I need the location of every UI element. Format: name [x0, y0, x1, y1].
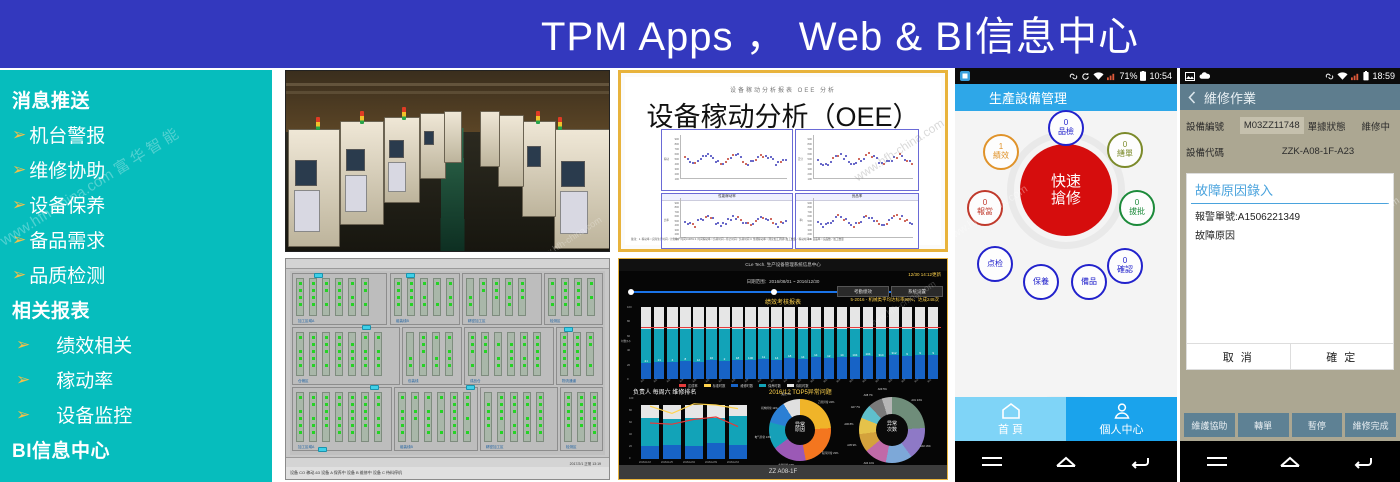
scada-machine-status[interactable]: [564, 303, 567, 306]
scada-machine-status[interactable]: [513, 410, 516, 413]
scada-machine-status[interactable]: [449, 296, 452, 299]
sidebar: 消息推送 ➢ 机台警报 ➢ 维修协助 ➢ 设备保养 ➢ 备品需求 ➢ 品质检测 …: [0, 70, 272, 482]
scada-machine-status[interactable]: [414, 410, 417, 413]
scada-machine-status[interactable]: [299, 410, 302, 413]
scada-machine-status[interactable]: [338, 296, 341, 299]
scada-machine-status[interactable]: [299, 431, 302, 434]
scada-machine-status[interactable]: [593, 410, 596, 413]
scada-machine-status[interactable]: [508, 296, 511, 299]
scada-machine-status[interactable]: [469, 296, 472, 299]
scada-machine-status[interactable]: [325, 343, 328, 346]
scada-machine-status[interactable]: [338, 424, 341, 427]
scada-machine-status[interactable]: [409, 364, 412, 367]
home-nav-icon[interactable]: [1279, 455, 1301, 469]
scada-machine-status[interactable]: [513, 424, 516, 427]
sidebar-item-quality-check[interactable]: ➢ 品质检测: [8, 257, 272, 292]
scada-machine-status[interactable]: [299, 336, 302, 339]
scada-machine-status[interactable]: [312, 403, 315, 406]
scada-machine-status[interactable]: [523, 357, 526, 360]
signal-icon: [1351, 72, 1360, 81]
scada-machine-status[interactable]: [312, 364, 315, 367]
scada-machine-status[interactable]: [325, 396, 328, 399]
scada-machine-status[interactable]: [435, 336, 438, 339]
scada-machine-status[interactable]: [364, 303, 367, 306]
scada-machine-status[interactable]: [312, 424, 315, 427]
scada-machine-status[interactable]: [469, 303, 472, 306]
scada-machine-status[interactable]: [325, 364, 328, 367]
scada-machine-status[interactable]: [351, 431, 354, 434]
scada-machine-status[interactable]: [539, 417, 542, 420]
scada-machine-status[interactable]: [453, 403, 456, 406]
scada-machine-status[interactable]: [364, 336, 367, 339]
scada-machine-status[interactable]: [471, 343, 474, 346]
scada-machine-status[interactable]: [422, 364, 425, 367]
scada-machine-status[interactable]: [448, 350, 451, 353]
scada-machine-status[interactable]: [482, 289, 485, 292]
scada-machine-status[interactable]: [589, 336, 592, 339]
scada-machine-status[interactable]: [364, 350, 367, 353]
scada-machine-status[interactable]: [567, 396, 570, 399]
scada-machine-status[interactable]: [338, 350, 341, 353]
scada-machine-status[interactable]: [423, 296, 426, 299]
scada-machine-status[interactable]: [593, 396, 596, 399]
cancel-button[interactable]: 取 消: [1187, 344, 1290, 369]
scada-machine-status[interactable]: [523, 343, 526, 346]
scada-machine-status[interactable]: [299, 303, 302, 306]
scada-machine-status[interactable]: [466, 417, 469, 420]
scada-machine-status[interactable]: [351, 282, 354, 285]
scada-zone[interactable]: [462, 273, 542, 325]
scada-machine-status[interactable]: [325, 303, 328, 306]
node-performance[interactable]: 1 績效: [983, 134, 1019, 170]
scada-machine-status[interactable]: [536, 350, 539, 353]
scada-machine-status[interactable]: [539, 396, 542, 399]
scada-machine-status[interactable]: [536, 364, 539, 367]
scada-machine-status[interactable]: [563, 364, 566, 367]
scada-machine-status[interactable]: [453, 396, 456, 399]
node-work-order[interactable]: 0 繕單: [1107, 132, 1143, 168]
scada-machine-status[interactable]: [312, 336, 315, 339]
scada-machine-status[interactable]: [580, 424, 583, 427]
scada-machine-status[interactable]: [466, 403, 469, 406]
scada-machine-status[interactable]: [500, 431, 503, 434]
scada-machine-status[interactable]: [338, 336, 341, 339]
oee-notes: 备注：1. 稼动率＝实际生产时间／计划生产时间×100% 2. 时间稼动率＝负荷…: [631, 238, 935, 242]
scada-machine-status[interactable]: [427, 431, 430, 434]
scada-machine-status[interactable]: [576, 364, 579, 367]
scada-machine-status[interactable]: [453, 410, 456, 413]
scada-machine-status[interactable]: [484, 343, 487, 346]
scada-machine-status[interactable]: [312, 357, 315, 360]
scada-machine-status[interactable]: [351, 303, 354, 306]
scada-machine-status[interactable]: [471, 336, 474, 339]
scada-machine-status[interactable]: [397, 282, 400, 285]
scada-machine-status[interactable]: [449, 303, 452, 306]
scada-machine-status[interactable]: [497, 343, 500, 346]
scada-machine-status[interactable]: [500, 396, 503, 399]
scada-bottom-toolbar[interactable]: [286, 457, 609, 467]
scada-machine-status[interactable]: [364, 417, 367, 420]
scada-machine-status[interactable]: [564, 282, 567, 285]
scada-machine-status[interactable]: [487, 424, 490, 427]
scada-machine-status[interactable]: [377, 357, 380, 360]
scada-machine-status[interactable]: [299, 364, 302, 367]
slider-knob-start[interactable]: [628, 289, 634, 295]
scada-machine-status[interactable]: [423, 303, 426, 306]
scada-machine-status[interactable]: [397, 289, 400, 292]
scada-machine-status[interactable]: [397, 303, 400, 306]
scada-machine-status[interactable]: [338, 343, 341, 346]
quick-repair-button[interactable]: 快速 搶修: [1020, 144, 1112, 236]
scada-machine-status[interactable]: [351, 364, 354, 367]
scada-machine-status[interactable]: [299, 296, 302, 299]
scada-machine-status[interactable]: [299, 282, 302, 285]
scada-machine-status[interactable]: [521, 296, 524, 299]
scada-machine-status[interactable]: [497, 357, 500, 360]
scada-machine-status[interactable]: [401, 424, 404, 427]
scada-machine-status[interactable]: [312, 282, 315, 285]
scada-machine-status[interactable]: [436, 282, 439, 285]
scada-machine-status[interactable]: [377, 431, 380, 434]
sidebar-item-utilization[interactable]: ➢ 稼动率: [8, 362, 272, 397]
scada-machine-status[interactable]: [338, 396, 341, 399]
scada-machine-status[interactable]: [377, 417, 380, 420]
scada-machine-status[interactable]: [589, 364, 592, 367]
scada-machine-status[interactable]: [377, 336, 380, 339]
back-icon[interactable]: [1129, 455, 1151, 469]
bar-segment: [915, 307, 925, 329]
scada-machine-status[interactable]: [427, 417, 430, 420]
scada-machine-status[interactable]: [466, 431, 469, 434]
confirm-button[interactable]: 確 定: [1291, 344, 1394, 369]
tab-home[interactable]: 首 頁: [955, 397, 1066, 441]
scada-machine-status[interactable]: [567, 424, 570, 427]
scada-machine-status[interactable]: [453, 417, 456, 420]
scada-machine-status[interactable]: [577, 282, 580, 285]
sidebar-item-equipment-monitor[interactable]: ➢ 设备监控: [8, 397, 272, 432]
scada-machine-status[interactable]: [523, 336, 526, 339]
scada-machine-status[interactable]: [440, 431, 443, 434]
scada-machine-status[interactable]: [364, 364, 367, 367]
trend-bar-segment: [685, 418, 703, 446]
scada-floorplan[interactable]: 设备 CO 稼动-63 设备 A 保养中 设备 B 维修中 设备 C 待料停机 …: [285, 258, 610, 480]
scada-machine-status[interactable]: [590, 296, 593, 299]
scada-machine-status[interactable]: [536, 336, 539, 339]
node-quality-check[interactable]: 0 品檢: [1048, 110, 1084, 146]
scada-machine-status[interactable]: [440, 396, 443, 399]
scada-machine-status[interactable]: [471, 364, 474, 367]
sidebar-item-equipment-maintenance[interactable]: ➢ 设备保养: [8, 187, 272, 222]
scada-machine-status[interactable]: [427, 396, 430, 399]
scada-machine-status[interactable]: [436, 303, 439, 306]
scada-machine-status[interactable]: [325, 424, 328, 427]
scada-machine-status[interactable]: [401, 417, 404, 420]
scada-machine-status[interactable]: [409, 357, 412, 360]
scada-machine-status[interactable]: [563, 336, 566, 339]
scada-machine-status[interactable]: [539, 431, 542, 434]
scada-machine-status[interactable]: [580, 417, 583, 420]
scada-machine-status[interactable]: [466, 396, 469, 399]
scada-machine-status[interactable]: [427, 424, 430, 427]
scada-machine-status[interactable]: [521, 282, 524, 285]
scada-machine-status[interactable]: [377, 403, 380, 406]
scada-machine-status[interactable]: [539, 403, 542, 406]
scada-machine-status[interactable]: [500, 410, 503, 413]
scada-machine-status[interactable]: [526, 417, 529, 420]
scada-machine-status[interactable]: [510, 343, 513, 346]
scada-machine-status[interactable]: [351, 357, 354, 360]
scada-machine-status[interactable]: [536, 357, 539, 360]
scada-machine-status[interactable]: [593, 431, 596, 434]
back-chevron-icon[interactable]: [1188, 91, 1196, 104]
node-spare-parts[interactable]: 備品: [1071, 264, 1107, 300]
scada-machine-status[interactable]: [500, 417, 503, 420]
scada-machine-status[interactable]: [576, 336, 579, 339]
scada-machine-status[interactable]: [364, 424, 367, 427]
sidebar-item-spare-parts[interactable]: ➢ 备品需求: [8, 222, 272, 257]
scada-machine-status[interactable]: [567, 403, 570, 406]
scada-machine-status[interactable]: [577, 303, 580, 306]
scada-machine-status[interactable]: [351, 403, 354, 406]
bar-value-label: 12: [693, 358, 703, 362]
slider-knob-mid[interactable]: [771, 289, 777, 295]
back-icon[interactable]: [1352, 455, 1374, 469]
scada-machine-status[interactable]: [495, 282, 498, 285]
scada-machine-status[interactable]: [338, 289, 341, 292]
sidebar-item-performance[interactable]: ➢ 绩效相关: [8, 327, 272, 362]
scada-machine-status[interactable]: [448, 357, 451, 360]
scada-machine-status[interactable]: [325, 336, 328, 339]
scada-machine-status[interactable]: [453, 424, 456, 427]
scada-machine-status[interactable]: [564, 296, 567, 299]
scada-machine-status[interactable]: [422, 350, 425, 353]
scada-machine-status[interactable]: [484, 350, 487, 353]
scada-machine-status[interactable]: [500, 403, 503, 406]
node-batch-pull[interactable]: 0 拔批: [1119, 190, 1155, 226]
scada-machine-status[interactable]: [539, 424, 542, 427]
scada-machine-status[interactable]: [338, 282, 341, 285]
menu-icon[interactable]: [1206, 455, 1228, 469]
scada-machine-status[interactable]: [325, 350, 328, 353]
scada-machine-status[interactable]: [325, 403, 328, 406]
scada-machine-status[interactable]: [312, 396, 315, 399]
scada-machine-status[interactable]: [325, 282, 328, 285]
scada-machine-status[interactable]: [523, 364, 526, 367]
scada-machine-status[interactable]: [422, 343, 425, 346]
scada-machine-status[interactable]: [448, 364, 451, 367]
action-repair-complete[interactable]: 維修完成: [1345, 413, 1396, 437]
scada-machine-status[interactable]: [487, 410, 490, 413]
scada-machine-status[interactable]: [508, 282, 511, 285]
scada-machine-status[interactable]: [580, 410, 583, 413]
scada-machine-status[interactable]: [312, 289, 315, 292]
scada-machine-status[interactable]: [377, 424, 380, 427]
scada-machine-status[interactable]: [299, 417, 302, 420]
scada-machine-status[interactable]: [377, 350, 380, 353]
scada-machine-status[interactable]: [410, 282, 413, 285]
scada-machine-status[interactable]: [580, 403, 583, 406]
scada-machine-status[interactable]: [377, 396, 380, 399]
scada-machine-status[interactable]: [495, 289, 498, 292]
scada-machine-status[interactable]: [508, 303, 511, 306]
scada-machine-status[interactable]: [567, 417, 570, 420]
scada-machine-status[interactable]: [364, 289, 367, 292]
scada-toolbar[interactable]: [286, 259, 609, 269]
scada-machine-status[interactable]: [410, 296, 413, 299]
scada-machine-status[interactable]: [593, 424, 596, 427]
scada-machine-status[interactable]: [377, 364, 380, 367]
scada-machine-status[interactable]: [577, 289, 580, 292]
scada-machine-status[interactable]: [364, 396, 367, 399]
scada-machine-status[interactable]: [576, 357, 579, 360]
scada-machine-status[interactable]: [495, 296, 498, 299]
scada-machine-status[interactable]: [526, 396, 529, 399]
y-axis-label: 时数(H): [621, 339, 630, 343]
scada-machine-status[interactable]: [351, 343, 354, 346]
scada-machine-status[interactable]: [325, 417, 328, 420]
scada-machine-status[interactable]: [423, 282, 426, 285]
scada-machine-status[interactable]: [312, 350, 315, 353]
scada-machine-status[interactable]: [325, 289, 328, 292]
scada-machine-status[interactable]: [414, 417, 417, 420]
scada-machine-status[interactable]: [513, 403, 516, 406]
scada-machine-status[interactable]: [435, 364, 438, 367]
scada-machine-status[interactable]: [576, 343, 579, 346]
scada-machine-status[interactable]: [364, 282, 367, 285]
oee-data-point: [820, 223, 822, 225]
scada-machine-status[interactable]: [338, 403, 341, 406]
scada-canvas[interactable]: 加工区域A组装线B精密加工区检测区仓储区包装线成品仓物流通道加工区域A组装线B精…: [290, 271, 605, 455]
scada-machine-status[interactable]: [590, 282, 593, 285]
scada-machine-status[interactable]: [577, 296, 580, 299]
scada-machine-status[interactable]: [427, 410, 430, 413]
action-transfer-order[interactable]: 轉單: [1238, 413, 1289, 437]
field-value[interactable]: M03ZZ11748: [1240, 117, 1304, 134]
scada-machine-status[interactable]: [312, 431, 315, 434]
tab-profile[interactable]: 個人中心: [1066, 397, 1177, 441]
scada-machine-status[interactable]: [338, 431, 341, 434]
scada-machine-status[interactable]: [510, 357, 513, 360]
bar-value-label: 8: [680, 357, 690, 361]
scada-machine-status[interactable]: [364, 403, 367, 406]
scada-machine-status[interactable]: [397, 296, 400, 299]
scada-machine-status[interactable]: [526, 431, 529, 434]
scada-machine-status[interactable]: [551, 296, 554, 299]
scada-machine-status[interactable]: [551, 282, 554, 285]
node-spot-check[interactable]: 点检: [977, 246, 1013, 282]
scada-machine-status[interactable]: [497, 364, 500, 367]
scada-machine-status[interactable]: [526, 403, 529, 406]
menu-icon[interactable]: [981, 455, 1003, 469]
scada-machine-status[interactable]: [325, 410, 328, 413]
scada-machine-status[interactable]: [448, 336, 451, 339]
scada-machine-status[interactable]: [580, 396, 583, 399]
scada-machine-status[interactable]: [551, 303, 554, 306]
scada-machine-status[interactable]: [299, 289, 302, 292]
scada-machine-status[interactable]: [589, 343, 592, 346]
scada-machine-status[interactable]: [401, 410, 404, 413]
scada-machine-status[interactable]: [299, 396, 302, 399]
scada-machine-status[interactable]: [563, 350, 566, 353]
scada-machine-status[interactable]: [414, 396, 417, 399]
scada-machine-status[interactable]: [312, 417, 315, 420]
scada-machine-status[interactable]: [338, 357, 341, 360]
scada-machine-status[interactable]: [513, 396, 516, 399]
scada-machine-status[interactable]: [401, 396, 404, 399]
scada-machine-status[interactable]: [471, 350, 474, 353]
scada-machine-status[interactable]: [563, 343, 566, 346]
scada-machine-status[interactable]: [364, 357, 367, 360]
scada-machine-status[interactable]: [351, 296, 354, 299]
scada-machine-status[interactable]: [299, 350, 302, 353]
scada-machine-status[interactable]: [539, 410, 542, 413]
scada-machine-status[interactable]: [299, 424, 302, 427]
scada-machine-status[interactable]: [410, 303, 413, 306]
trend-bar-segment: [663, 445, 681, 459]
sidebar-item-machine-alarm[interactable]: ➢ 机台警报: [8, 117, 272, 152]
scada-machine-status[interactable]: [453, 431, 456, 434]
scada-machine-status[interactable]: [410, 289, 413, 292]
scada-machine-status[interactable]: [484, 336, 487, 339]
scada-machine-status[interactable]: [593, 403, 596, 406]
scada-machine-status[interactable]: [351, 417, 354, 420]
scada-machine-status[interactable]: [364, 410, 367, 413]
scada-machine-status[interactable]: [351, 396, 354, 399]
scada-machine-status[interactable]: [440, 410, 443, 413]
scada-machine-status[interactable]: [422, 336, 425, 339]
scada-machine-status[interactable]: [526, 424, 529, 427]
scada-machine-status[interactable]: [312, 296, 315, 299]
scada-machine-status[interactable]: [351, 410, 354, 413]
scada-machine-status[interactable]: [338, 303, 341, 306]
scada-machine-status[interactable]: [510, 350, 513, 353]
legend-entry: 维修时数: [731, 383, 753, 388]
scada-machine-status[interactable]: [564, 289, 567, 292]
action-pause[interactable]: 暫停: [1292, 413, 1343, 437]
scada-machine-status[interactable]: [338, 364, 341, 367]
scada-machine-status[interactable]: [536, 343, 539, 346]
home-nav-icon[interactable]: [1055, 455, 1077, 469]
scada-machine-status[interactable]: [567, 410, 570, 413]
date-range-slider[interactable]: [631, 291, 935, 293]
scada-machine-status[interactable]: [487, 417, 490, 420]
link-icon: [1325, 72, 1334, 81]
scada-machine-status[interactable]: [449, 282, 452, 285]
scada-machine-status[interactable]: [435, 357, 438, 360]
scada-machine-status[interactable]: [338, 417, 341, 420]
scada-machine-status[interactable]: [576, 350, 579, 353]
node-confirm[interactable]: 0 確認: [1107, 248, 1143, 284]
scada-machine-status[interactable]: [482, 282, 485, 285]
scada-machine-status[interactable]: [521, 289, 524, 292]
scada-machine-status[interactable]: [351, 424, 354, 427]
scada-machine-status[interactable]: [510, 364, 513, 367]
action-maintenance-assist[interactable]: 維護協助: [1184, 413, 1235, 437]
scada-machine-status[interactable]: [312, 343, 315, 346]
node-maintenance[interactable]: 保養: [1023, 264, 1059, 300]
scada-machine-status[interactable]: [563, 357, 566, 360]
attendance-performance-button[interactable]: 考勤绩效: [837, 286, 889, 297]
scada-machine-status[interactable]: [487, 403, 490, 406]
bar-segment: [784, 358, 794, 379]
scada-machine-status[interactable]: [312, 303, 315, 306]
scada-machine-status[interactable]: [593, 417, 596, 420]
scada-machine-status[interactable]: [351, 350, 354, 353]
scada-machine-status[interactable]: [401, 431, 404, 434]
scada-machine-status[interactable]: [299, 357, 302, 360]
sidebar-item-repair-assist[interactable]: ➢ 维修协助: [8, 152, 272, 187]
scada-machine-status[interactable]: [513, 431, 516, 434]
